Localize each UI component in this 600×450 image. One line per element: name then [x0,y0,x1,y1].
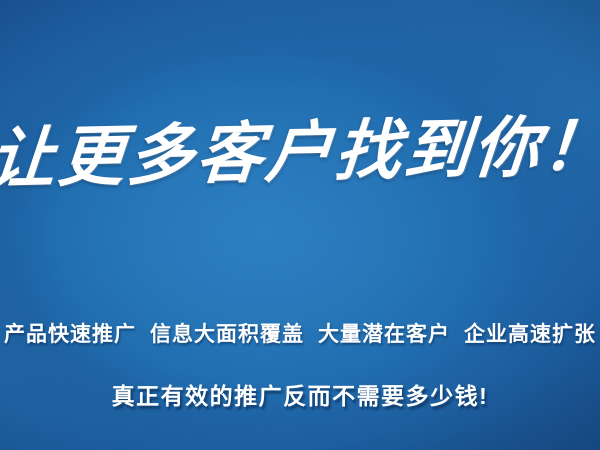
subtitle-keyword: 企业高速扩张 [464,322,596,348]
subtitle-keyword-row: 产品快速推广 信息大面积覆盖 大量潜在客户 企业高速扩张 [0,322,600,348]
tagline-text: 真正有效的推广反而不需要多少钱! [112,382,489,411]
subtitle-keyword: 大量潜在客户 [318,322,450,348]
tagline-row: 真正有效的推广反而不需要多少钱! [0,382,600,411]
headline-text: 让更多客户找到你！ [0,113,600,192]
headline-row: 让更多客户找到你！ [0,104,600,200]
promo-banner: 让更多客户找到你！ 产品快速推广 信息大面积覆盖 大量潜在客户 企业高速扩张 真… [0,0,600,450]
subtitle-keyword: 产品快速推广 [4,322,136,348]
subtitle-keyword: 信息大面积覆盖 [150,322,304,348]
